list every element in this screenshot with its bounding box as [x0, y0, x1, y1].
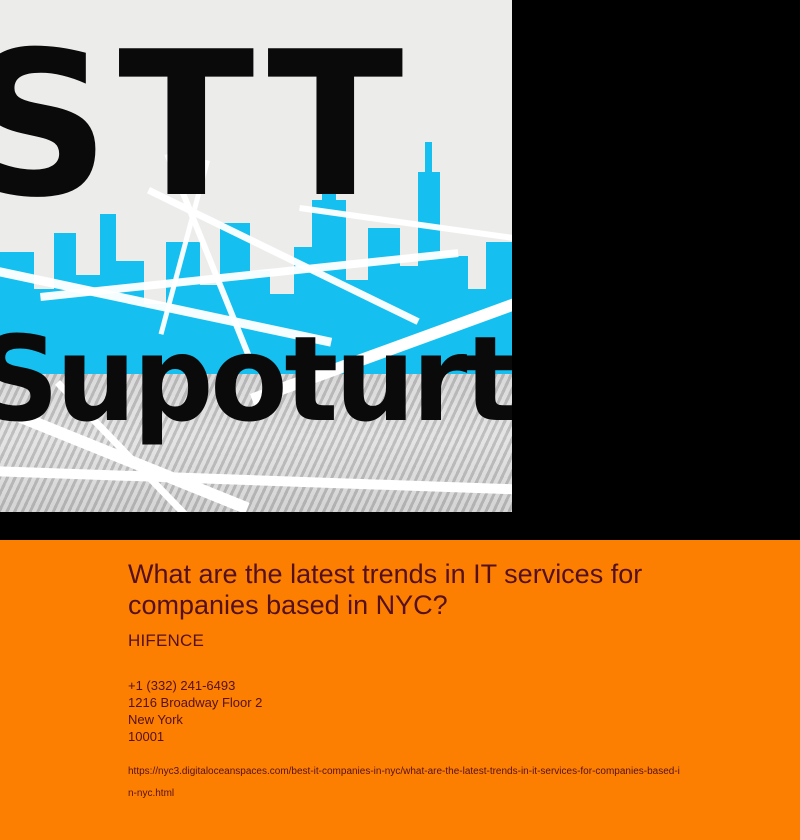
brand-name: HIFENCE	[128, 631, 204, 651]
road-marking	[0, 466, 512, 495]
info-panel: What are the latest trends in IT service…	[0, 540, 800, 840]
contact-street: 1216 Broadway Floor 2	[128, 694, 262, 711]
hero-media-band: STT Supoturt	[0, 0, 800, 540]
contact-city: New York	[128, 711, 262, 728]
source-url[interactable]: https://nyc3.digitaloceanspaces.com/best…	[128, 761, 684, 805]
contact-block: +1 (332) 241-6493 1216 Broadway Floor 2 …	[128, 677, 262, 745]
page-title: What are the latest trends in IT service…	[128, 559, 728, 621]
poster-headline-bottom: Supoturt	[0, 320, 512, 438]
poster-headline-top: STT	[0, 26, 411, 226]
contact-phone: +1 (332) 241-6493	[128, 677, 262, 694]
hero-image: STT Supoturt	[0, 0, 512, 512]
skyline-spire	[425, 142, 432, 172]
contact-zip: 10001	[128, 728, 262, 745]
